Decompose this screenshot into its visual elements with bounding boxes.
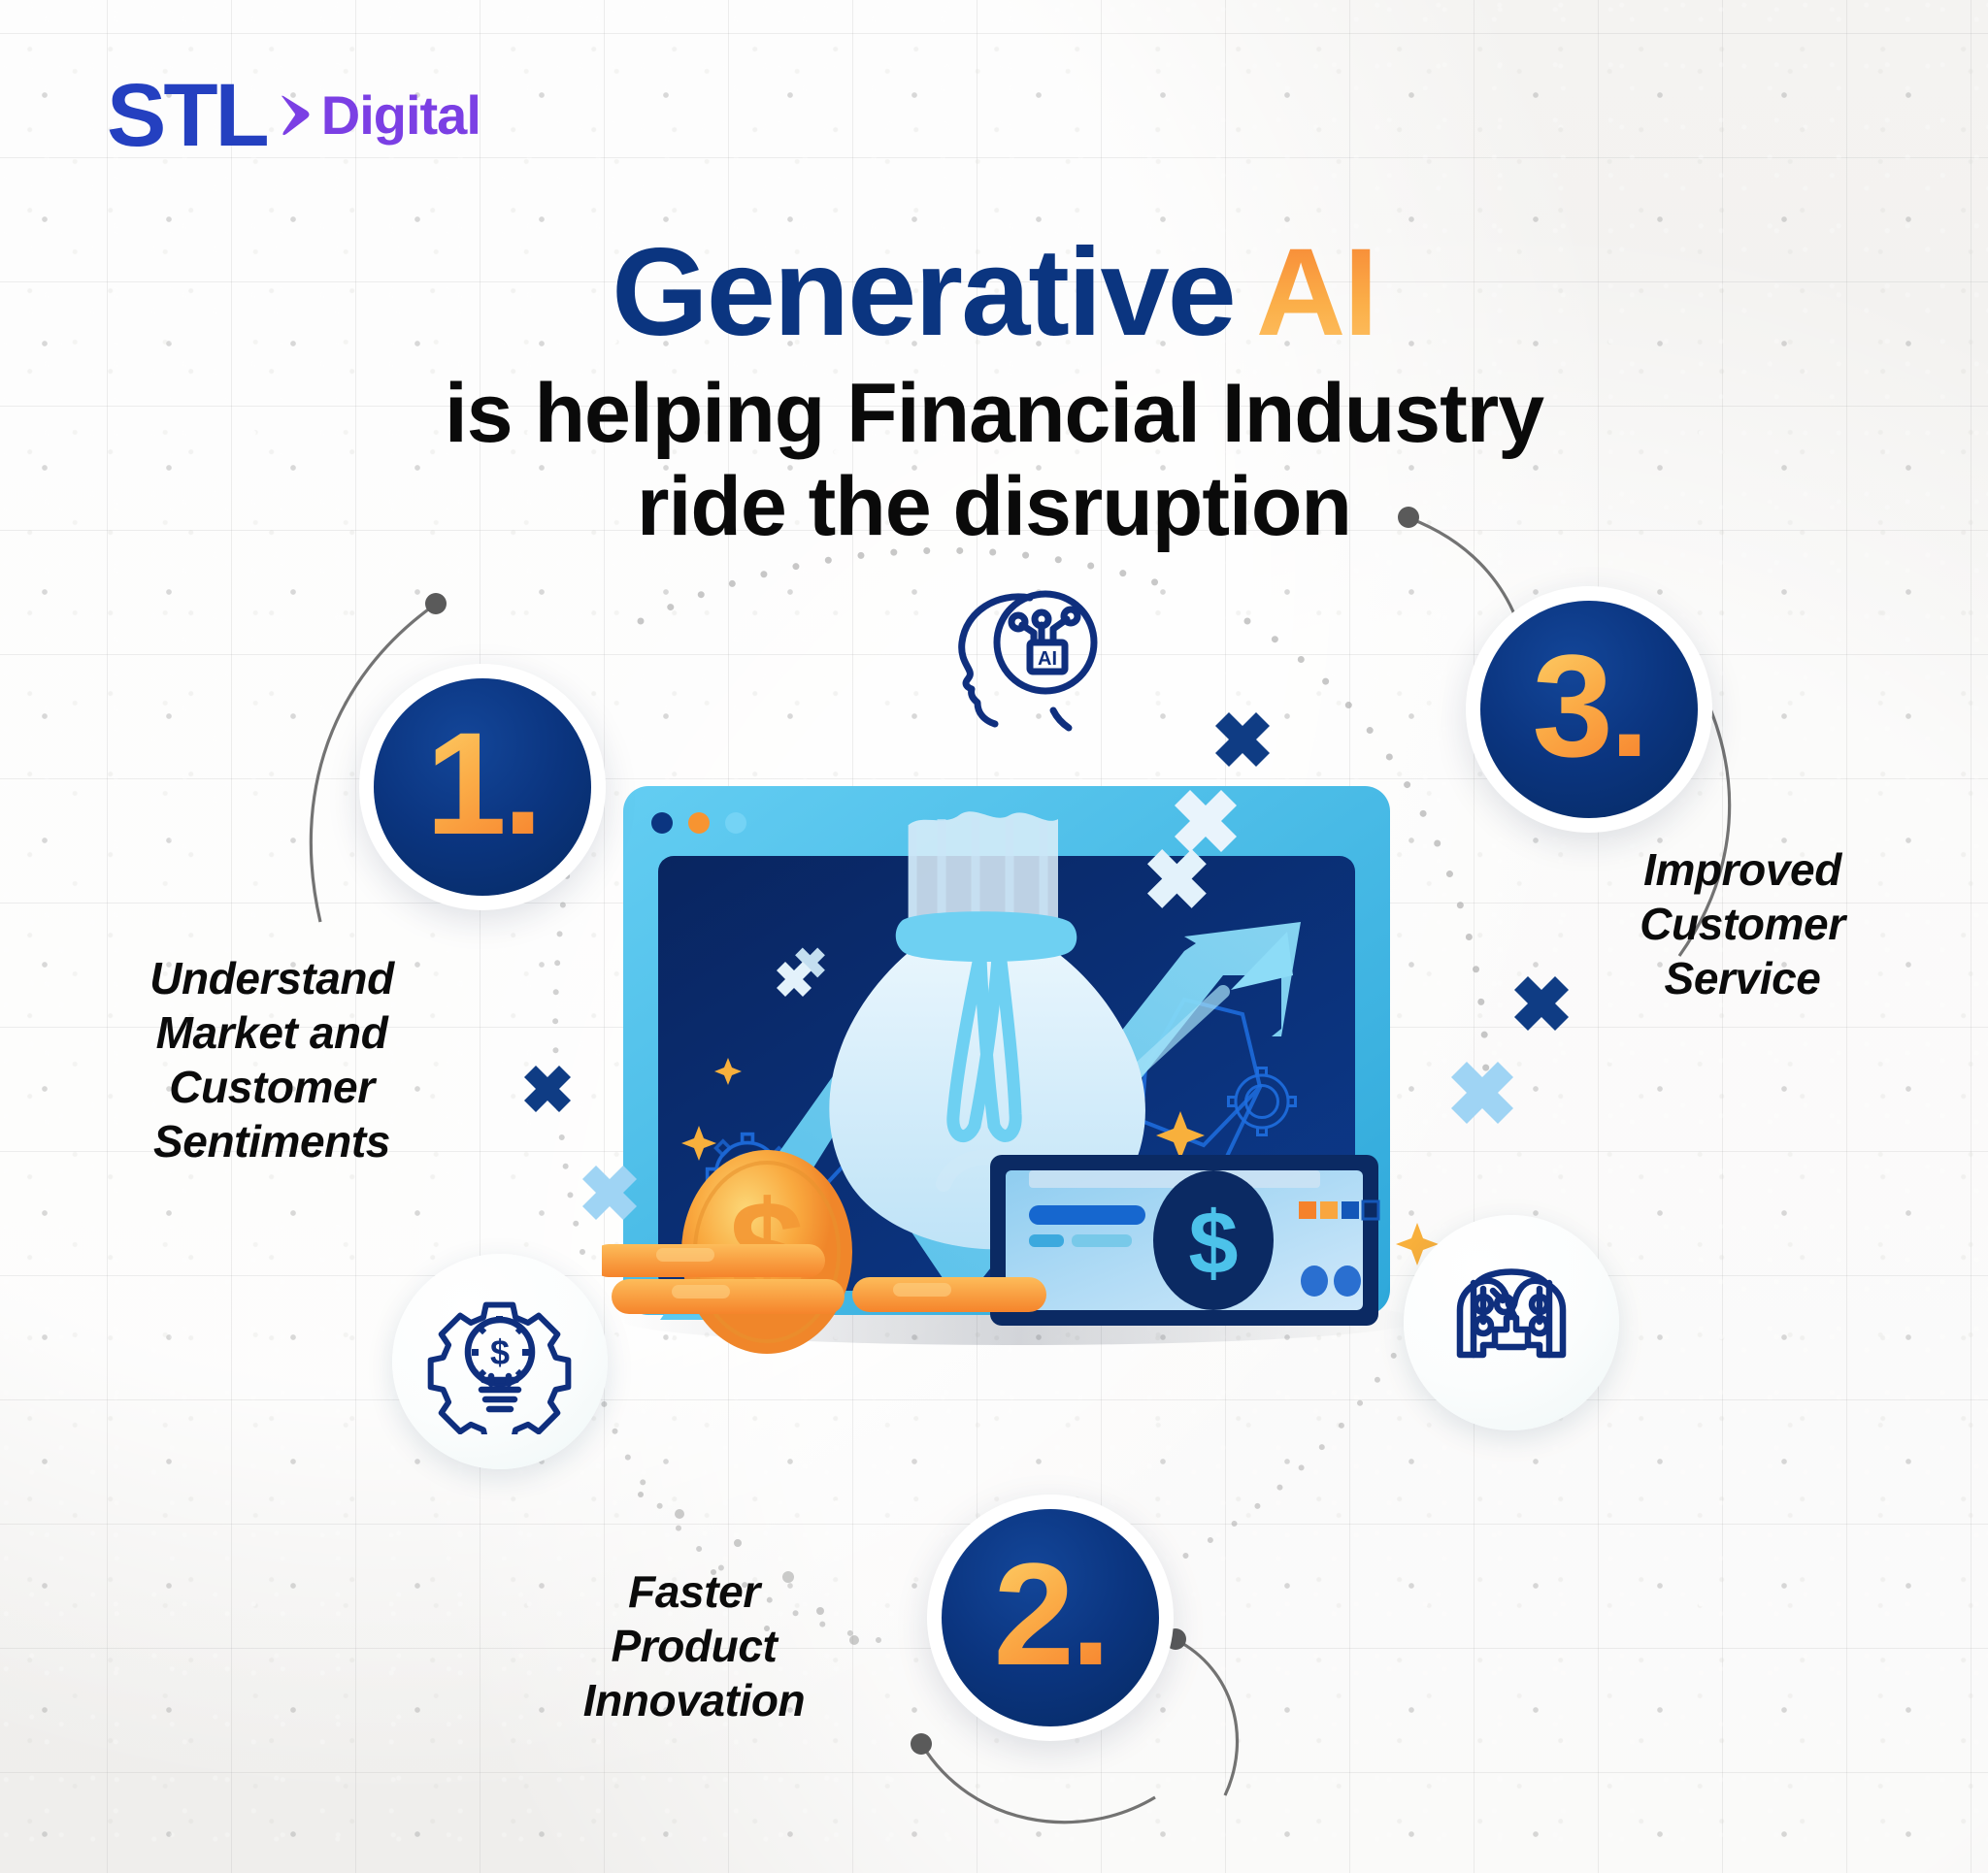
ai-brain-head-icon: AI: [937, 582, 1102, 733]
badge-number-3: 3.: [1532, 633, 1645, 778]
caption-line: Sentiments: [116, 1114, 427, 1168]
svg-text:$: $: [1188, 1194, 1238, 1293]
badge-disc-2: 2.: [942, 1509, 1159, 1726]
ai-chip-label: AI: [1038, 648, 1057, 670]
two-heads-ai-conversation-icon: [1439, 1250, 1584, 1396]
caption-line: Improved: [1582, 842, 1903, 897]
caption-line: Service: [1582, 951, 1903, 1005]
caption-line: Market and: [116, 1005, 427, 1060]
badge-disc-1: 1.: [374, 678, 591, 896]
badge-number-1: 1.: [425, 710, 539, 856]
caption-step-1: Understand Market and Customer Sentiment…: [116, 951, 427, 1168]
caption-line: Innovation: [553, 1673, 835, 1727]
window-dot-navy: [651, 812, 673, 834]
badge-step-1[interactable]: 1.: [359, 664, 606, 910]
page-title: GenerativeAI is helping Financial Indust…: [0, 231, 1988, 554]
headline-line-2: is helping Financial Industry: [0, 367, 1988, 460]
chevron-right-icon: [275, 93, 314, 138]
caption-step-3: Improved Customer Service: [1582, 842, 1903, 1005]
infographic-canvas: .dotline{fill:none;stroke:#9b9b9b;stroke…: [0, 0, 1988, 1873]
headline-generative: Generative: [612, 223, 1235, 362]
window-dot-cyan: [725, 812, 746, 834]
badge-number-2: 2.: [993, 1541, 1107, 1687]
headline-line-1: GenerativeAI: [0, 231, 1988, 355]
svg-text:$: $: [490, 1332, 510, 1372]
headline-line-3: ride the disruption: [0, 460, 1988, 553]
caption-line: Customer: [1582, 897, 1903, 951]
caption-line: Customer: [116, 1060, 427, 1114]
logo-stl-text: STL: [107, 76, 267, 156]
laptop-money-growth-illustration: $ $: [602, 776, 1437, 1397]
badge-disc-3: 3.: [1480, 601, 1698, 818]
caption-line: Product: [553, 1619, 835, 1673]
gear-lightbulb-dollar-icon: $: [427, 1289, 573, 1434]
icon-circle-customer-service[interactable]: [1404, 1215, 1619, 1430]
banknote-dollar: $: [990, 1155, 1378, 1326]
logo-digital-text: Digital: [321, 88, 480, 143]
badge-step-3[interactable]: 3.: [1466, 586, 1712, 833]
brand-logo[interactable]: STL Digital: [107, 76, 480, 156]
icon-circle-innovation[interactable]: $: [392, 1254, 608, 1469]
caption-line: Understand: [116, 951, 427, 1005]
caption-line: Faster: [553, 1564, 835, 1619]
window-dot-orange: [688, 812, 710, 834]
badge-step-2[interactable]: 2.: [927, 1495, 1174, 1741]
headline-ai: AI: [1256, 223, 1376, 362]
caption-step-2: Faster Product Innovation: [553, 1564, 835, 1727]
